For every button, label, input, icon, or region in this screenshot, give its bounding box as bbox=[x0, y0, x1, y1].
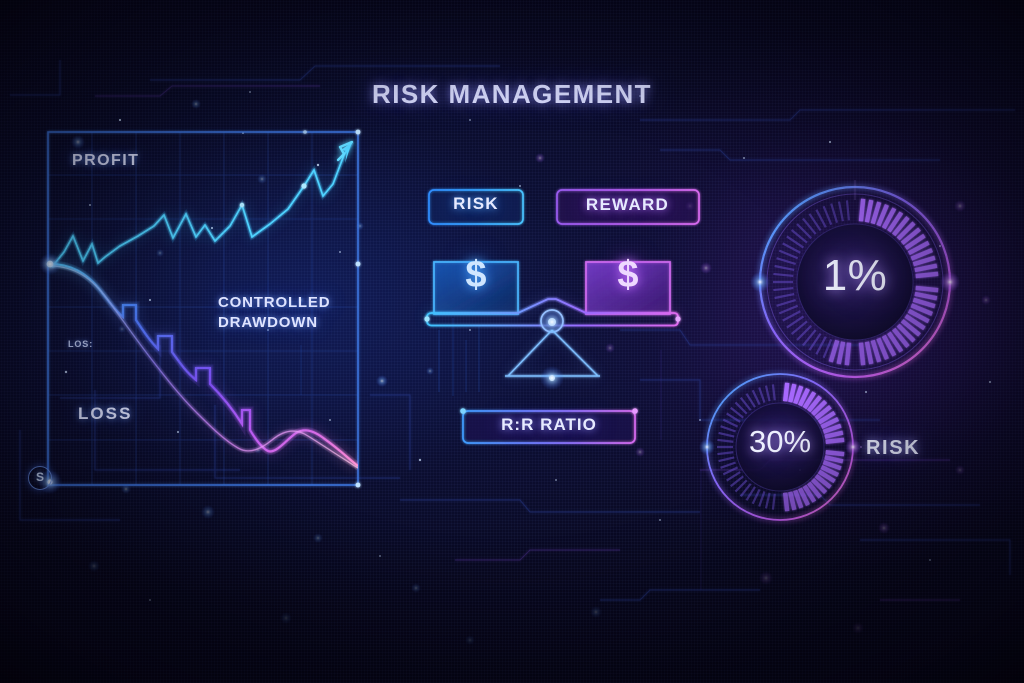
risk-chip-label: RISK bbox=[434, 194, 518, 214]
risk-currency-symbol: $ bbox=[434, 254, 518, 297]
controlled-drawdown-label: CONTROLLED DRAWDOWN bbox=[218, 293, 348, 334]
account-risk-value: 30% bbox=[705, 424, 855, 460]
corner-mark-icon: S bbox=[28, 466, 52, 490]
risk-gauge-label: RISK bbox=[866, 437, 920, 460]
page-title: RISK MANAGEMENT bbox=[0, 79, 1024, 110]
reward-currency-symbol: $ bbox=[586, 254, 670, 297]
position-risk-value: 1% bbox=[760, 251, 950, 301]
loss-label: LOSS bbox=[78, 404, 132, 424]
loss-threshold-tick: LOS: bbox=[68, 339, 93, 349]
rr-ratio-label: R:R RATIO bbox=[466, 415, 632, 435]
reward-chip-label: REWARD bbox=[560, 195, 695, 215]
profit-label: PROFIT bbox=[72, 152, 139, 170]
infographic-canvas: RISK MANAGEMENT PROFIT LOSS LOS: CONTROL… bbox=[0, 0, 1024, 683]
